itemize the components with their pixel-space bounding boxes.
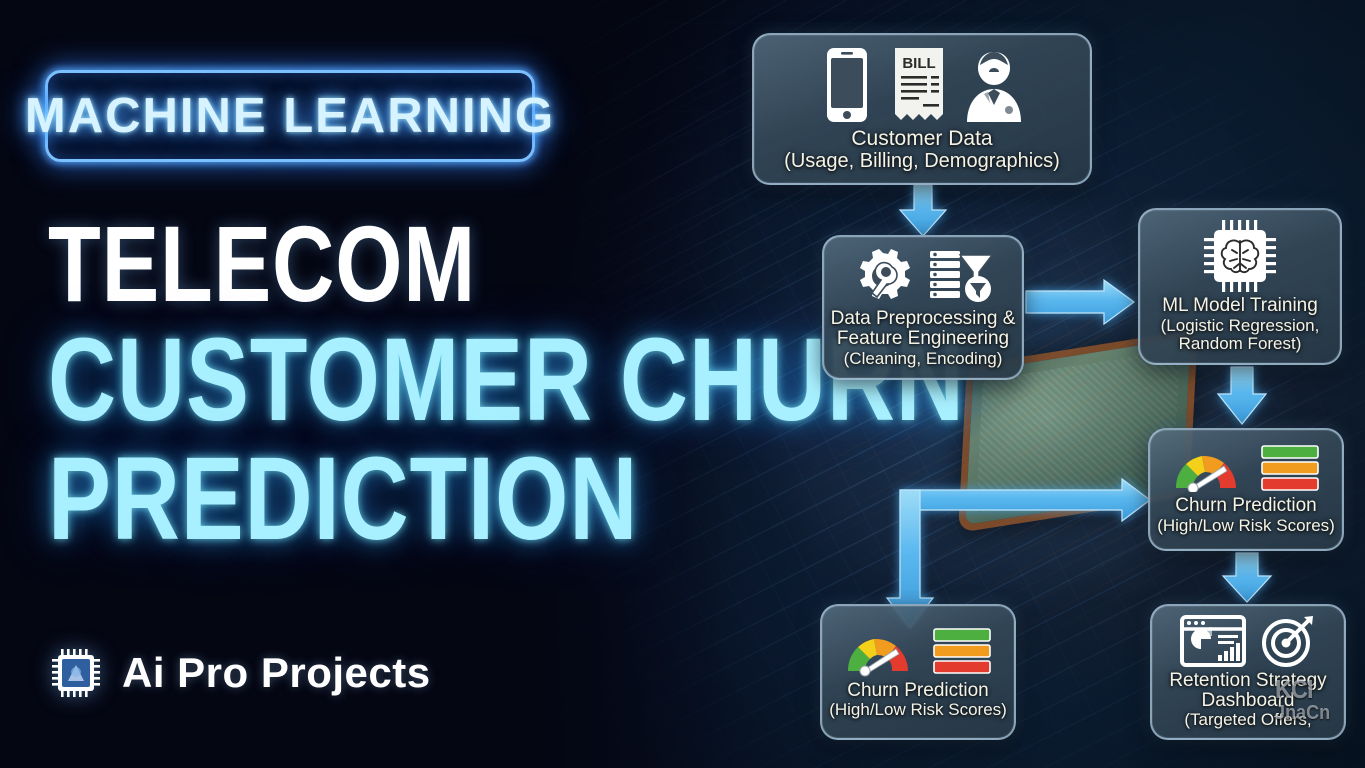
risk-bars-icon: [932, 625, 992, 677]
node-churn-prediction-right[interactable]: Churn Prediction (High/Low Risk Scores): [1148, 428, 1344, 551]
customer-person-icon: [963, 46, 1025, 124]
node-churn-bottom-icons: [844, 625, 992, 677]
node-customer-data-subtitle: (Usage, Billing, Demographics): [784, 151, 1060, 172]
node-customer-data-label: Customer Data (Usage, Billing, Demograph…: [784, 128, 1060, 171]
watermark-line2: JnaCn: [1275, 703, 1330, 723]
brain-chip-icon: [1204, 220, 1276, 292]
node-churn-bottom-title: Churn Prediction: [847, 680, 989, 701]
watermark: KCI JnaCn: [1275, 676, 1330, 723]
node-data-preprocessing[interactable]: Data Preprocessing & Feature Engineering…: [822, 235, 1024, 380]
node-ml-training-icons: [1204, 220, 1276, 292]
node-ml-training-title: ML Model Training: [1162, 295, 1318, 316]
node-preprocessing-icons: [852, 247, 994, 305]
target-bullseye-icon: [1260, 615, 1316, 667]
node-retention-icons: [1180, 615, 1316, 667]
node-ml-training[interactable]: ML Model Training (Logistic Regression, …: [1138, 208, 1342, 365]
node-ml-training-subtitle: (Logistic Regression,: [1161, 317, 1320, 335]
dashboard-chart-icon: [1180, 615, 1246, 667]
node-ml-training-subtitle2: Random Forest): [1161, 335, 1320, 353]
node-preprocessing-title: Data Preprocessing &: [831, 308, 1016, 329]
node-preprocessing-title2: Feature Engineering: [831, 329, 1016, 349]
node-churn-right-title: Churn Prediction: [1175, 495, 1317, 516]
node-ml-training-label: ML Model Training (Logistic Regression, …: [1161, 296, 1320, 352]
smartphone-icon: [819, 46, 875, 124]
node-preprocessing-subtitle: (Cleaning, Encoding): [831, 350, 1016, 368]
node-churn-bottom-label: Churn Prediction (High/Low Risk Scores): [829, 681, 1007, 719]
bill-receipt-icon: BILL: [889, 46, 949, 124]
flow-diagram: BILL: [0, 0, 1365, 768]
poster-canvas: MACHINE LEARNING TELECOM CUSTOMER CHURN …: [0, 0, 1365, 768]
data-filter-icon: [928, 247, 994, 305]
node-churn-right-label: Churn Prediction (High/Low Risk Scores): [1157, 496, 1335, 534]
bill-icon-text: BILL: [902, 55, 935, 72]
node-churn-bottom-subtitle: (High/Low Risk Scores): [829, 701, 1007, 719]
node-customer-data[interactable]: BILL: [752, 33, 1092, 185]
node-preprocessing-label: Data Preprocessing & Feature Engineering…: [831, 309, 1016, 367]
risk-gauge-icon: [844, 625, 918, 677]
risk-bars-icon: [1260, 444, 1320, 492]
node-customer-data-icons: BILL: [819, 46, 1025, 124]
node-churn-right-subtitle: (High/Low Risk Scores): [1157, 517, 1335, 535]
node-churn-prediction-bottom[interactable]: Churn Prediction (High/Low Risk Scores): [820, 604, 1016, 740]
node-churn-right-icons: [1172, 444, 1320, 492]
node-customer-data-title: Customer Data: [851, 127, 992, 150]
risk-gauge-icon: [1172, 444, 1246, 492]
watermark-line1: KCI: [1275, 674, 1313, 704]
gear-wrench-icon: [852, 247, 914, 305]
